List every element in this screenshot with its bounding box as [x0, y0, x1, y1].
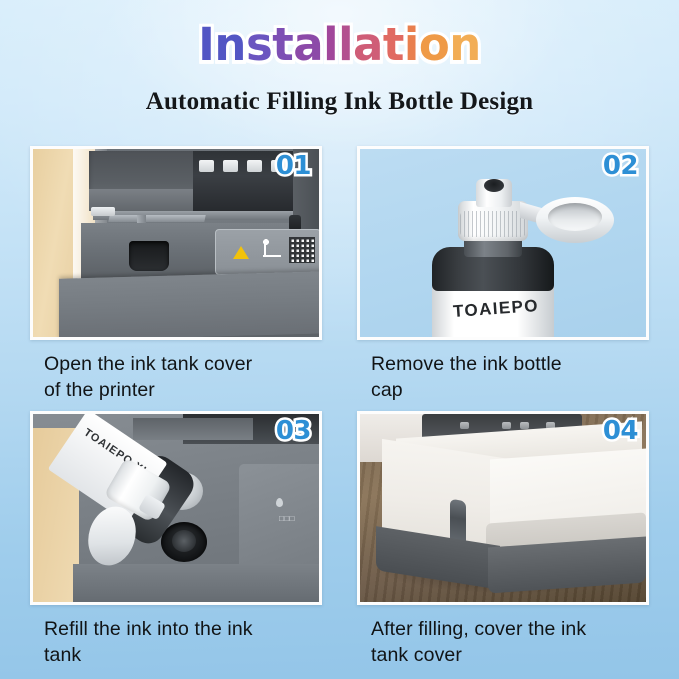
step-card-02: TOAIEPO 02 Remove the ink bottle cap: [357, 146, 649, 403]
nozzle-ribs-shape: [460, 211, 526, 237]
title-letter-9: i: [404, 22, 419, 67]
page-subtitle: Automatic Filling Ink Bottle Design: [0, 88, 679, 116]
manual-pictogram-icon: [261, 239, 283, 263]
steps-grid: 01 Open the ink tank cover of the printe…: [0, 146, 679, 679]
page-title-wrapper: Installation: [0, 22, 679, 67]
caption-line: Remove the ink bottle: [357, 351, 649, 377]
carriage-nub-3: [247, 160, 262, 172]
printer-deck-shape: [73, 564, 319, 602]
caption-line: Open the ink tank cover: [30, 351, 322, 377]
title-letter-6: l: [338, 22, 353, 67]
paper-guide-arm-shape: [108, 215, 205, 222]
step-caption-03: Refill the ink into the ink tank: [30, 616, 322, 668]
tank-fill-hole-inner-shape: [172, 530, 196, 552]
printer-power-button[interactable]: [460, 422, 469, 429]
page-title: Installation: [198, 22, 481, 67]
title-letter-3: t: [272, 22, 293, 67]
step-photo-03: □□□ TOAIEPO XL 03: [30, 411, 322, 605]
step-badge-01: 01: [276, 153, 311, 179]
release-tab-shape: [91, 207, 115, 216]
caption-line: tank cover: [357, 642, 649, 668]
printer-open-illustration: 01: [33, 149, 319, 337]
caption-line: Refill the ink into the ink: [30, 616, 322, 642]
step-badge-03: 03: [276, 418, 311, 444]
step-caption-04: After filling, cover the ink tank cover: [357, 616, 649, 668]
title-letter-2: s: [246, 22, 272, 67]
printer-panel-marking: □□□: [279, 514, 295, 523]
page-background: Installation Automatic Filling Ink Bottl…: [0, 0, 679, 679]
step-caption-01: Open the ink tank cover of the printer: [30, 351, 322, 403]
ink-bottle-illustration: TOAIEPO 02: [360, 149, 646, 337]
qr-code-icon: [289, 237, 315, 263]
nozzle-opening-shape: [484, 179, 504, 192]
step-caption-02: Remove the ink bottle cap: [357, 351, 649, 403]
step-badge-02: 02: [603, 153, 638, 179]
printer-button-2[interactable]: [502, 422, 511, 429]
ink-drop-icon: [276, 498, 283, 507]
carriage-nub-1: [199, 160, 214, 172]
title-letter-8: t: [383, 22, 404, 67]
title-letter-4: a: [293, 22, 323, 67]
title-letter-10: o: [419, 22, 449, 67]
title-letter-7: a: [353, 22, 383, 67]
warning-triangle-icon: [233, 246, 249, 259]
title-letter-1: n: [214, 22, 246, 67]
step-photo-02: TOAIEPO 02: [357, 146, 649, 340]
step-card-01: 01 Open the ink tank cover of the printe…: [30, 146, 322, 403]
carriage-nub-2: [223, 160, 238, 172]
step-badge-04: 04: [603, 418, 638, 444]
ink-tank-opening-shape: [129, 241, 169, 271]
printer-ridge-shape: [133, 418, 253, 440]
step-card-04: 04 After filling, cover the ink tank cov…: [357, 411, 649, 668]
bottle-cap-inner-shape: [548, 203, 602, 231]
caption-line: tank: [30, 642, 322, 668]
title-letter-11: n: [449, 22, 481, 67]
printer-button-3[interactable]: [520, 422, 529, 429]
closed-printer-illustration: 04: [360, 414, 646, 602]
step-photo-01: 01: [30, 146, 322, 340]
refill-illustration: □□□ TOAIEPO XL 03: [33, 414, 319, 602]
step-card-03: □□□ TOAIEPO XL 03 Refill the ink into th…: [30, 411, 322, 668]
title-letter-5: l: [323, 22, 338, 67]
title-letter-0: I: [198, 22, 214, 67]
caption-line: of the printer: [30, 377, 322, 403]
step-photo-04: 04: [357, 411, 649, 605]
caption-line: cap: [357, 377, 649, 403]
caption-line: After filling, cover the ink: [357, 616, 649, 642]
ink-tank-cover-shape: [59, 271, 319, 337]
